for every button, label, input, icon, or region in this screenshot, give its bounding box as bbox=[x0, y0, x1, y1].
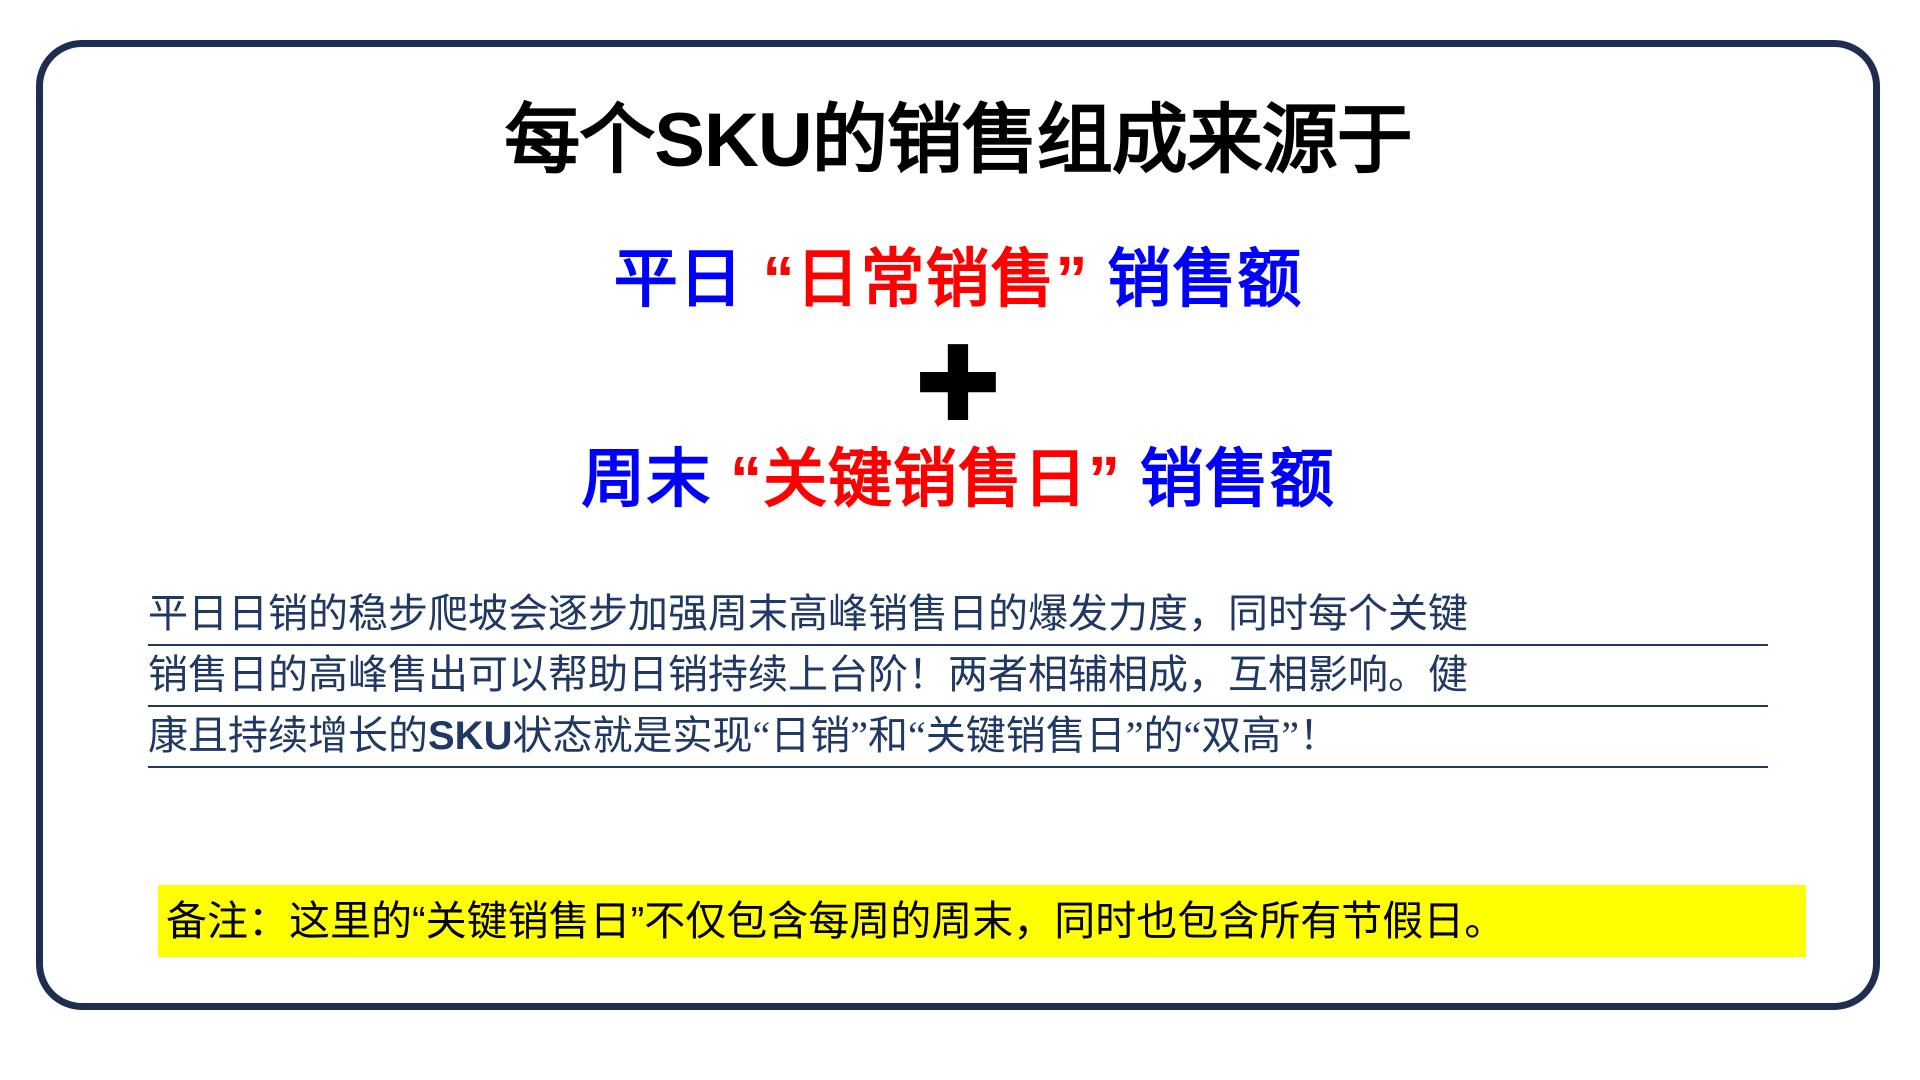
paragraph-line-2: 销售日的高峰售出可以帮助日销持续上台阶！两者相辅相成，互相影响。健 bbox=[148, 646, 1768, 707]
formula-line2-prefix: 周末 bbox=[581, 443, 730, 515]
slide-content: 每个SKU的销售组成来源于 平日 “日常销售” 销售额 ✚ 周末 “关键销售日”… bbox=[36, 40, 1880, 1010]
plus-operator-icon: ✚ bbox=[36, 330, 1880, 440]
page-title: 每个SKU的销售组成来源于 bbox=[36, 95, 1880, 187]
formula-line2-suffix: 销售额 bbox=[1121, 443, 1335, 515]
formula-line2-emphasis: “关键销售日” bbox=[730, 443, 1121, 515]
formula-line1-emphasis: “日常销售” bbox=[763, 243, 1089, 315]
formula-line1-suffix: 销售额 bbox=[1089, 243, 1303, 315]
formula-line-key-sales-day: 周末 “关键销售日” 销售额 bbox=[36, 440, 1880, 518]
paragraph-line-3: 康且持续增长的SKU状态就是实现“日销”和“关键销售日”的“双高”！ bbox=[148, 707, 1768, 768]
paragraph-line3-sku-token: SKU bbox=[428, 714, 512, 758]
explanation-paragraph: 平日日销的稳步爬坡会逐步加强周末高峰销售日的爆发力度，同时每个关键 销售日的高峰… bbox=[148, 585, 1768, 768]
paragraph-line3-pre: 康且持续增长的 bbox=[148, 713, 428, 758]
note-highlight-bar: 备注：这里的“关键销售日”不仅包含每周的周末，同时也包含所有节假日。 bbox=[158, 885, 1806, 957]
slide-canvas: 每个SKU的销售组成来源于 平日 “日常销售” 销售额 ✚ 周末 “关键销售日”… bbox=[0, 0, 1920, 1080]
formula-line1-prefix: 平日 bbox=[614, 243, 763, 315]
paragraph-line3-post: 状态就是实现“日销”和“关键销售日”的“双高”！ bbox=[512, 713, 1339, 758]
paragraph-line-1: 平日日销的稳步爬坡会逐步加强周末高峰销售日的爆发力度，同时每个关键 bbox=[148, 585, 1768, 646]
formula-line-daily-sales: 平日 “日常销售” 销售额 bbox=[36, 240, 1880, 318]
